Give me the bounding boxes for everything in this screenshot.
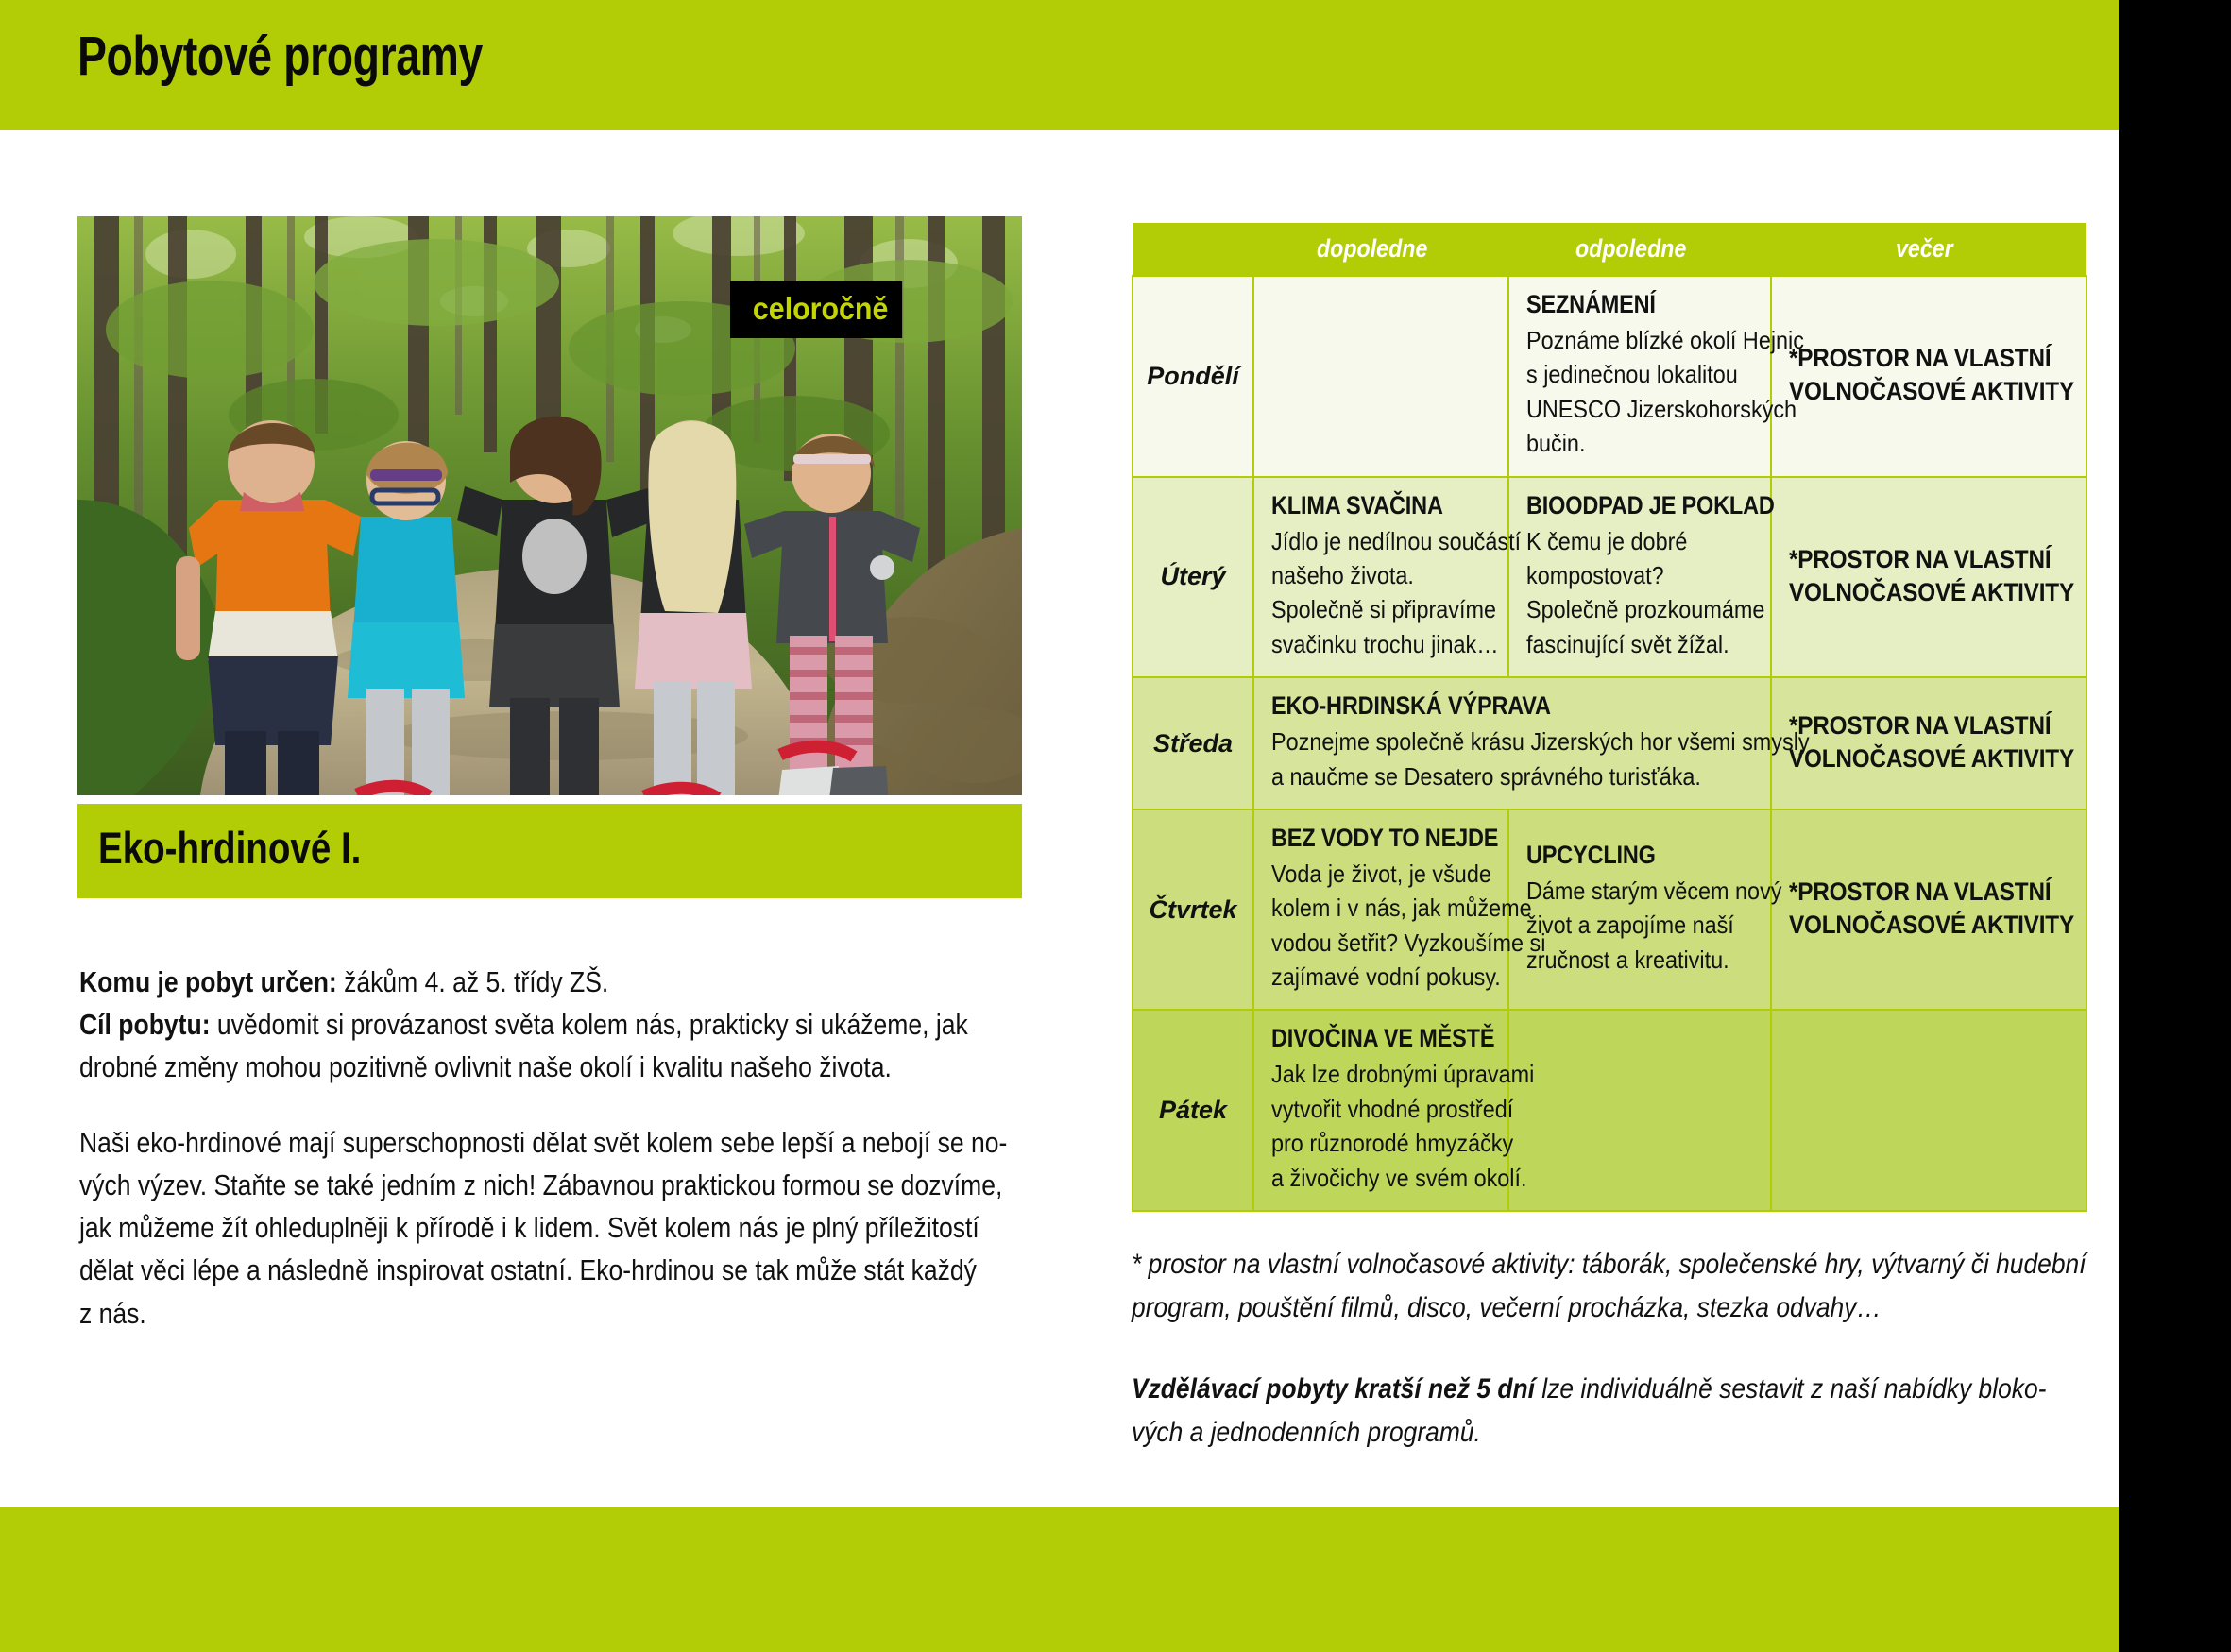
cell-thursday-morning: BEZ VODY TO NEJDE Voda je život, je všud… [1253, 809, 1508, 1011]
page-header-band: Pobytové programy [0, 0, 2119, 130]
program-title-bar: Eko-hrdinové I. [77, 804, 1022, 898]
day-label: Pátek [1133, 1010, 1253, 1211]
schedule-row-friday: Pátek DIVOČINA VE MĚSTĚ Jak lze drobnými… [1133, 1010, 2086, 1211]
activity-body: Jídlo je nedílnou součástí našeho života… [1271, 524, 1492, 662]
intro-text: žákům 4. až 5. třídy ZŠ. [337, 966, 609, 998]
program-intro: Komu je pobyt určen: žákům 4. až 5. tříd… [79, 962, 1024, 1089]
free-time-note: *PROSTOR NA VLASTNÍ VOLNOČASOVÉ AKTIVITY [1789, 342, 2070, 408]
short-stay-line: Vzdělávací pobyty kratší než 5 dní lze i… [1132, 1368, 2087, 1411]
cell-monday-evening: *PROSTOR NA VLASTNÍ VOLNOČASOVÉ AKTIVITY [1771, 276, 2086, 477]
side-rail: Základní škola I. stupeň [2119, 0, 2231, 1652]
column-header-day [1133, 223, 1253, 276]
cell-wednesday-evening: *PROSTOR NA VLASTNÍ VOLNOČASOVÉ AKTIVITY [1771, 677, 2086, 809]
short-stay-text: vých a jednodenních programů. [1132, 1411, 1481, 1455]
cell-tuesday-evening: *PROSTOR NA VLASTNÍ VOLNOČASOVÉ AKTIVITY [1771, 477, 2086, 678]
day-label: Středa [1133, 677, 1253, 809]
intro-line: drobné změny mohou pozitivně ovlivnit na… [79, 1047, 1024, 1089]
free-time-note: *PROSTOR NA VLASTNÍ VOLNOČASOVÉ AKTIVITY [1789, 709, 2070, 775]
activity-body: Jak lze drobnými úpravami vytvořit vhodn… [1271, 1057, 1492, 1195]
cell-monday-afternoon: SEZNÁMENÍ Poznáme blízké okolí Hejnic s … [1508, 276, 1771, 477]
activity-title: BEZ VODY TO NEJDE [1271, 824, 1498, 853]
description-line: dělat věci lépe a následně inspirovat os… [79, 1250, 1024, 1292]
season-badge: celoročně [730, 281, 902, 338]
intro-line: Komu je pobyt určen: žákům 4. až 5. tříd… [79, 962, 1024, 1004]
column-header-evening: večer [1771, 223, 2086, 276]
activity-title: DIVOČINA VE MĚSTĚ [1271, 1024, 1494, 1053]
activity-title: BIOODPAD JE POKLAD [1526, 491, 1775, 520]
short-stay-line: vých a jednodenních programů. [1132, 1411, 2087, 1455]
activity-body: K čemu je dobré kompostovat? Společně pr… [1526, 524, 1755, 662]
free-time-note: *PROSTOR NA VLASTNÍ VOLNOČASOVÉ AKTIVITY [1789, 876, 2070, 942]
schedule-row-monday: Pondělí SEZNÁMENÍ Poznáme blízké okolí H… [1133, 276, 2086, 477]
description-line: z nás. [79, 1293, 1024, 1336]
schedule-row-wednesday: Středa EKO-HRDINSKÁ VÝPRAVA Poznejme spo… [1133, 677, 2086, 809]
activity-title: SEZNÁMENÍ [1526, 290, 1656, 319]
day-label: Úterý [1133, 477, 1253, 678]
cell-wednesday-allday: EKO-HRDINSKÁ VÝPRAVA Poznejme společně k… [1253, 677, 1771, 809]
description-line: jak můžeme žít ohleduplněji k přírodě i … [79, 1207, 1024, 1250]
activity-body: Poznáme blízké okolí Hejnic s jedinečnou… [1526, 323, 1755, 461]
activity-body: Voda je život, je všude kolem i v nás, j… [1271, 857, 1492, 995]
intro-text: uvědomit si provázanost světa kolem nás,… [211, 1009, 968, 1041]
cell-monday-morning [1253, 276, 1508, 477]
footnote-line: * prostor na vlastní volnočasové aktivit… [1132, 1243, 2087, 1286]
activity-title: KLIMA SVAČINA [1271, 491, 1443, 520]
schedule-header-row: dopoledne odpoledne večer [1133, 223, 2086, 276]
day-label: Pondělí [1133, 276, 1253, 477]
weekly-schedule-table: dopoledne odpoledne večer Pondělí SEZNÁM… [1132, 223, 2087, 1212]
activity-title: UPCYCLING [1526, 841, 1656, 870]
short-stay-text: lze individuálně sestavit z naší nabídky… [1535, 1373, 2047, 1405]
column-header-morning: dopoledne [1253, 223, 1508, 276]
cell-friday-afternoon [1508, 1010, 1771, 1211]
column-header-afternoon: odpoledne [1508, 223, 1771, 276]
page-footer-band [0, 1507, 2119, 1652]
description-line: vých výzev. Staňte se také jedním z nich… [79, 1165, 1024, 1207]
day-label: Čtvrtek [1133, 809, 1253, 1011]
cell-thursday-evening: *PROSTOR NA VLASTNÍ VOLNOČASOVÉ AKTIVITY [1771, 809, 2086, 1011]
activity-body: Dáme starým věcem nový život a zapojíme … [1526, 874, 1755, 977]
activity-title: EKO-HRDINSKÁ VÝPRAVA [1271, 691, 1551, 721]
intro-text: drobné změny mohou pozitivně ovlivnit na… [79, 1047, 892, 1089]
intro-line: Cíl pobytu: uvědomit si provázanost svět… [79, 1004, 1024, 1047]
schedule-row-thursday: Čtvrtek BEZ VODY TO NEJDE Voda je život,… [1133, 809, 2086, 1011]
cell-friday-evening [1771, 1010, 2086, 1211]
free-time-footnote: * prostor na vlastní volnočasové aktivit… [1132, 1243, 2087, 1329]
cell-tuesday-afternoon: BIOODPAD JE POKLAD K čemu je dobré kompo… [1508, 477, 1771, 678]
activity-body: Poznejme společně krásu Jizerských hor v… [1271, 724, 1755, 793]
short-stay-lead: Vzdělávací pobyty kratší než 5 dní [1132, 1373, 1535, 1405]
page-title: Pobytové programy [77, 25, 483, 88]
cell-thursday-afternoon: UPCYCLING Dáme starým věcem nový život a… [1508, 809, 1771, 1011]
cell-tuesday-morning: KLIMA SVAČINA Jídlo je nedílnou součástí… [1253, 477, 1508, 678]
footnote-line: program, pouštění filmů, disco, večerní … [1132, 1286, 2087, 1330]
schedule-row-tuesday: Úterý KLIMA SVAČINA Jídlo je nedílnou so… [1133, 477, 2086, 678]
cell-friday-morning: DIVOČINA VE MĚSTĚ Jak lze drobnými úprav… [1253, 1010, 1508, 1211]
intro-lead: Komu je pobyt určen: [79, 966, 337, 998]
description-line: Naši eko-hrdinové mají superschopnosti d… [79, 1122, 1024, 1165]
intro-lead: Cíl pobytu: [79, 1009, 211, 1041]
free-time-note: *PROSTOR NA VLASTNÍ VOLNOČASOVÉ AKTIVITY [1789, 543, 2070, 609]
program-title: Eko-hrdinové I. [98, 822, 361, 874]
program-description: Naši eko-hrdinové mají superschopnosti d… [79, 1122, 1024, 1336]
short-stay-note: Vzdělávací pobyty kratší než 5 dní lze i… [1132, 1368, 2087, 1454]
